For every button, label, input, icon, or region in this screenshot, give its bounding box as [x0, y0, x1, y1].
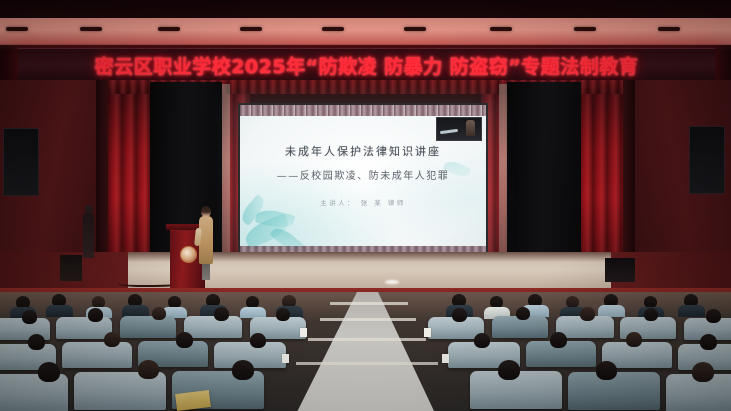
- audience-head: [176, 332, 193, 348]
- aisle-step: [330, 302, 408, 305]
- audience-head: [28, 334, 45, 350]
- slide-presenter: 主讲人： 张 某 律师: [240, 197, 486, 207]
- audience-area: [0, 292, 731, 411]
- wall-speaker-left: [3, 128, 39, 196]
- led-banner: 密云区职业学校2025年“防欺凌 防暴力 防盗窃”专题法制教育: [18, 48, 715, 82]
- presenter-body: [199, 216, 213, 264]
- projection-screen-surface: 未成年人保护法律知识讲座 ——反校园欺凌、防未成年人犯罪 主讲人： 张 某 律师: [240, 105, 486, 255]
- drape-edge-light-left: [222, 84, 230, 276]
- aisle-step: [296, 362, 438, 365]
- stage-equipment-right: [605, 258, 635, 282]
- audience-head: [596, 361, 617, 380]
- seat-row-tag: [282, 354, 289, 363]
- side-stage-person-head: [85, 205, 93, 213]
- presenter-head: [201, 206, 211, 217]
- aisle-step: [320, 318, 416, 321]
- audience-head: [152, 307, 166, 320]
- audience-head: [700, 334, 717, 350]
- audience-head: [22, 310, 37, 324]
- ceiling-light: [158, 27, 180, 31]
- ceiling-light: [80, 27, 102, 31]
- audience-head: [580, 307, 595, 321]
- audience-head: [276, 308, 290, 321]
- video-highlight-bar: [440, 129, 458, 134]
- ceiling-light: [658, 27, 680, 31]
- audience-head: [104, 332, 120, 347]
- audience-head: [692, 362, 714, 382]
- presenter-legs: [202, 262, 210, 280]
- auditorium-photo: 密云区职业学校2025年“防欺凌 防暴力 防盗窃”专题法制教育 未成年人保护法律…: [0, 0, 731, 411]
- seat: [184, 316, 242, 338]
- ceiling-soffit: [0, 18, 731, 48]
- drape-edge-light-right: [499, 84, 507, 276]
- slide-video-window: [436, 117, 482, 141]
- audience-shoulders: [678, 305, 705, 317]
- center-aisle: [280, 292, 455, 411]
- audience-head: [706, 309, 721, 323]
- aisle-step: [308, 338, 426, 341]
- audience-head: [550, 332, 567, 348]
- ceiling-light: [6, 27, 28, 31]
- audience-head: [516, 307, 530, 320]
- ceiling-light: [240, 27, 262, 31]
- wall-speaker-right: [689, 126, 725, 194]
- seat-row-tag: [442, 354, 449, 363]
- school-crest-icon: [180, 246, 197, 263]
- slide-title: 未成年人保护法律知识讲座: [240, 143, 486, 159]
- audience-head: [474, 333, 490, 348]
- audience-head: [498, 360, 520, 380]
- screen-top-band: [240, 105, 486, 116]
- seat-row-tag: [424, 328, 431, 337]
- audience-shoulders: [46, 305, 73, 317]
- audience-head: [644, 308, 658, 321]
- audience-head: [138, 360, 159, 379]
- side-stage-person: [83, 212, 94, 258]
- ceiling-light: [404, 27, 426, 31]
- ceiling-light: [574, 27, 596, 31]
- black-drape-right: [507, 82, 581, 280]
- projection-screen: 未成年人保护法律知识讲座 ——反校园欺凌、防未成年人犯罪 主讲人： 张 某 律师: [238, 103, 488, 257]
- slide-subtitle: ——反校园欺凌、防未成年人犯罪: [240, 167, 486, 182]
- led-banner-text: 密云区职业学校2025年“防欺凌 防暴力 防盗窃”专题法制教育: [18, 49, 715, 81]
- audience-head: [626, 332, 642, 347]
- audience-head: [232, 360, 254, 380]
- ceiling-light: [490, 27, 512, 31]
- audience-head: [452, 308, 467, 322]
- audience-head: [250, 333, 266, 348]
- audience-head: [38, 362, 60, 382]
- seat: [0, 374, 68, 411]
- stage-light-reflection: [385, 280, 399, 284]
- seat: [62, 342, 132, 368]
- audience-head: [88, 308, 103, 322]
- stage-equipment-left: [60, 255, 82, 281]
- ceiling-light: [322, 27, 344, 31]
- seat: [120, 316, 176, 338]
- seat-row-tag: [300, 328, 307, 337]
- audience-head: [214, 307, 229, 321]
- video-person-silhouette: [466, 120, 475, 136]
